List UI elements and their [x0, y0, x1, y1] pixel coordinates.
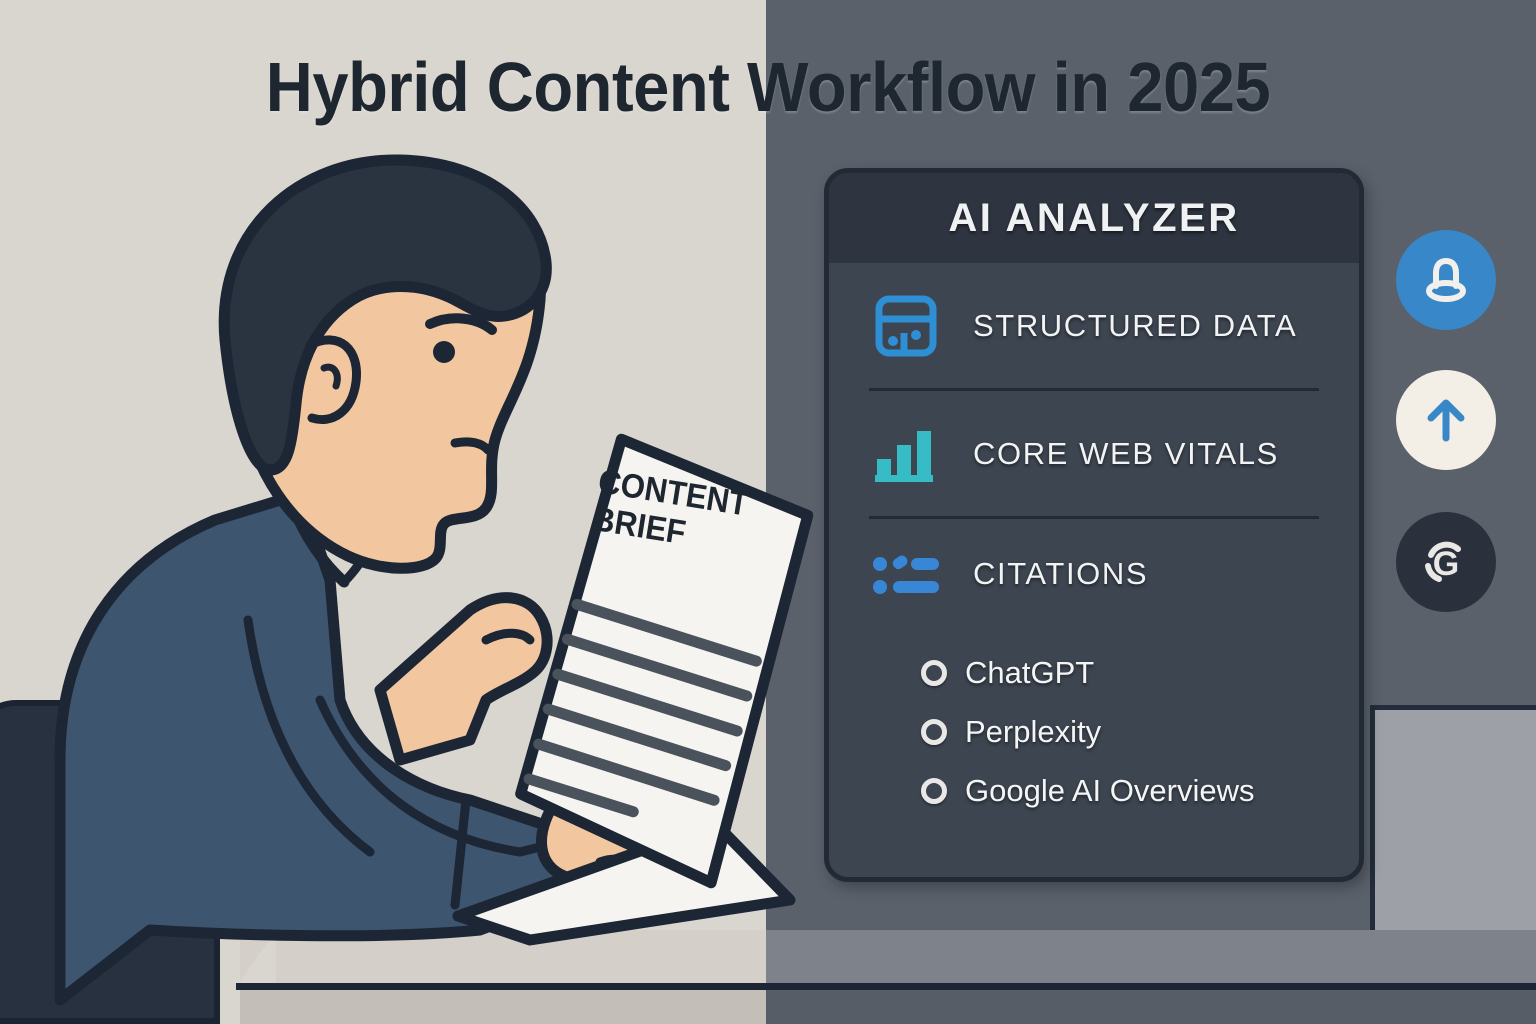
page-title: Hybrid Content Workflow in 2025 [54, 52, 1482, 122]
feature-label-core-web-vitals: CORE WEB VITALS [973, 436, 1279, 472]
notification-badge[interactable] [1396, 230, 1496, 330]
structured-data-icon [869, 293, 943, 359]
feature-row-core-web-vitals[interactable]: CORE WEB VITALS [869, 391, 1319, 516]
list-item[interactable]: Perplexity [921, 702, 1319, 761]
panel-header: AI ANALYZER [829, 173, 1359, 263]
svg-text:G: G [1433, 545, 1459, 583]
feature-row-citations[interactable]: CITATIONS [869, 519, 1319, 629]
ring-bullet-icon [921, 719, 947, 745]
panel-title: AI ANALYZER [948, 196, 1239, 241]
citation-source-list: ChatGPT Perplexity Google AI Overviews [869, 629, 1319, 820]
desk-surface-right [766, 930, 1536, 987]
feature-label-citations: CITATIONS [973, 556, 1148, 592]
list-item[interactable]: ChatGPT [921, 643, 1319, 702]
desk-front-panel-right [766, 990, 1536, 1024]
citation-source-label: Perplexity [965, 714, 1101, 750]
ring-bullet-icon [921, 778, 947, 804]
citation-source-label: ChatGPT [965, 655, 1094, 691]
ai-analyzer-panel: AI ANALYZER STRUCTURED DATA [824, 168, 1364, 882]
arrow-up-icon [1418, 392, 1474, 448]
list-item[interactable]: Google AI Overviews [921, 761, 1319, 820]
upward-trend-badge[interactable] [1396, 370, 1496, 470]
feature-row-structured-data[interactable]: STRUCTURED DATA [869, 263, 1319, 388]
illustration-scene: CONTENT BRIEF AI ANALYZER ST [0, 0, 1536, 1024]
panel-body: STRUCTURED DATA CORE WEB VITALS [829, 263, 1359, 820]
bar-chart-icon [869, 421, 943, 487]
ring-bullet-icon [921, 660, 947, 686]
citations-list-icon [869, 552, 943, 596]
wall-floor-divider-horizontal [1374, 705, 1536, 710]
bell-icon [1418, 252, 1474, 308]
google-badge[interactable]: G [1396, 512, 1496, 612]
feature-label-structured-data: STRUCTURED DATA [973, 308, 1297, 344]
citation-source-label: Google AI Overviews [965, 773, 1254, 809]
google-g-icon: G [1417, 533, 1475, 591]
